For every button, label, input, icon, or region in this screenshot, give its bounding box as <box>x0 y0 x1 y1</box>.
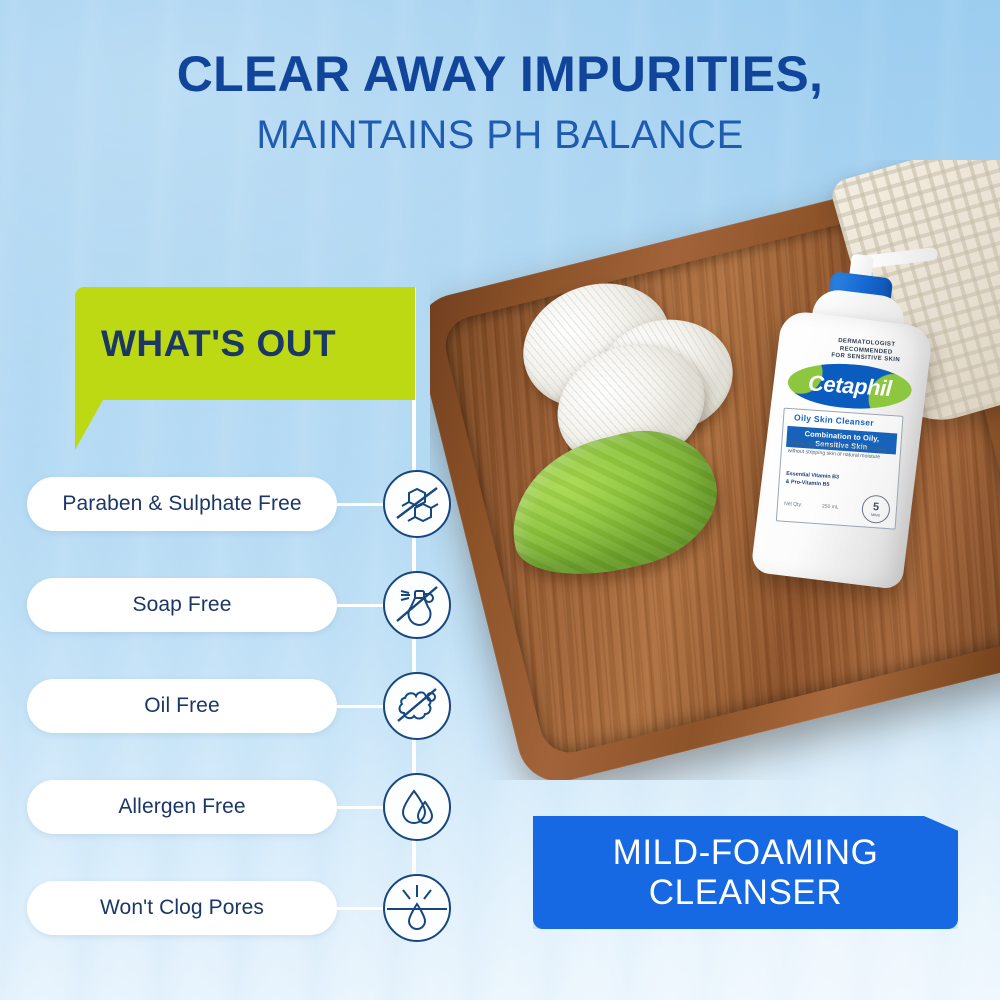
feature-connector <box>337 503 383 506</box>
feature-pill: Allergen Free <box>27 780 337 834</box>
feature-pill: Soap Free <box>27 578 337 632</box>
net-qty-label: Net Qty: <box>784 501 803 508</box>
feature-connector <box>337 604 383 607</box>
five-mins-badge: 5 MINS <box>861 494 891 524</box>
feature-label: Soap Free <box>133 593 232 617</box>
promo-image: DERMATOLOGIST RECOMMENDED FOR SENSITIVE … <box>0 0 1000 1000</box>
banner-line-1: MILD-FOAMING <box>613 833 879 872</box>
feature-row-oil-free: Oil Free <box>27 679 470 733</box>
feature-row-wont-clog-pores: Won't Clog Pores <box>27 881 470 935</box>
feature-connector <box>337 705 383 708</box>
banner-line-2: CLEANSER <box>649 873 842 912</box>
net-qty-value: 250 mL <box>822 503 839 510</box>
feature-row-allergen-free: Allergen Free <box>27 780 470 834</box>
feature-pill: Won't Clog Pores <box>27 881 337 935</box>
product-photo-scene: DERMATOLOGIST RECOMMENDED FOR SENSITIVE … <box>430 160 1000 780</box>
product-variant: Oily Skin Cleanser <box>794 412 875 428</box>
feature-pill: Paraben & Sulphate Free <box>27 477 337 531</box>
no-oil-droplet-icon <box>381 670 453 742</box>
feature-row-soap-free: Soap Free <box>27 578 470 632</box>
feature-label: Oil Free <box>144 694 219 718</box>
product-actives: Essential Vitamin B3 & Pro-Vitamin B5 <box>785 471 839 490</box>
feature-label: Won't Clog Pores <box>100 896 264 920</box>
no-paraben-molecule-icon <box>381 468 453 540</box>
feature-row-paraben-sulphate-free: Paraben & Sulphate Free <box>27 477 470 531</box>
water-droplets-icon <box>381 771 453 843</box>
no-soap-dispenser-icon <box>381 569 453 641</box>
feature-list: Paraben & Sulphate Free Soap Free <box>0 0 470 1000</box>
label-info-box: Oily Skin Cleanser Combination to Oily, … <box>776 408 904 530</box>
feature-connector <box>337 806 383 809</box>
bottle-label: DERMATOLOGIST RECOMMENDED FOR SENSITIVE … <box>767 331 921 538</box>
feature-connector <box>337 907 383 910</box>
mild-foaming-cleanser-banner: MILD-FOAMING CLEANSER <box>533 816 958 929</box>
cetaphil-logo: Cetaphil <box>786 360 913 413</box>
brand-name: Cetaphil <box>807 370 892 402</box>
feature-label: Paraben & Sulphate Free <box>62 492 301 516</box>
feature-label: Allergen Free <box>118 795 245 819</box>
open-pore-droplet-icon <box>381 872 453 944</box>
feature-pill: Oil Free <box>27 679 337 733</box>
